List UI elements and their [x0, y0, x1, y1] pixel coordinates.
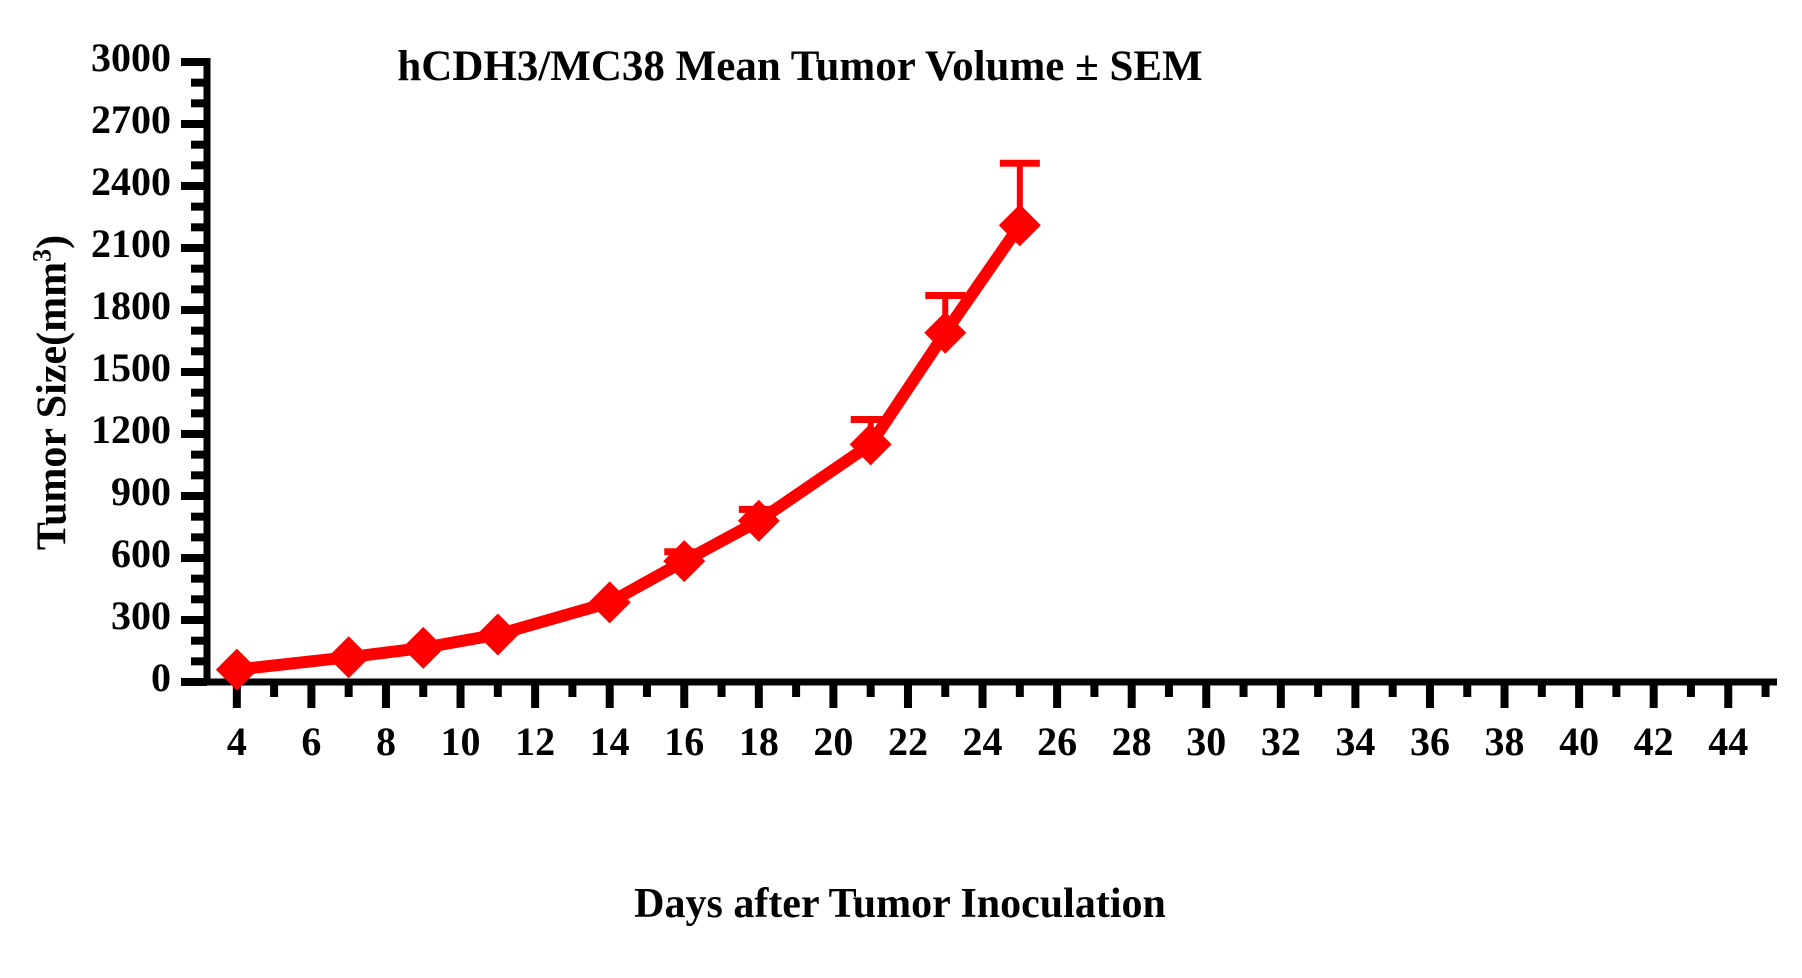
y-axis-tick-label: 1800: [11, 282, 171, 329]
y-axis-tick-label: 300: [11, 592, 171, 639]
x-axis-tick-label: 8: [351, 718, 421, 765]
chart-figure: hCDH3/MC38 Mean Tumor Volume ± SEM Tumor…: [0, 0, 1802, 978]
x-axis-tick-label: 18: [724, 718, 794, 765]
x-axis-tick-label: 38: [1470, 718, 1540, 765]
x-axis-tick-label: 24: [948, 718, 1018, 765]
data-point-marker: [328, 636, 370, 678]
x-axis-tick-label: 36: [1395, 718, 1465, 765]
x-axis-tick-label: 32: [1246, 718, 1316, 765]
x-axis-tick-label: 30: [1171, 718, 1241, 765]
y-axis-tick-label: 3000: [11, 34, 171, 81]
y-axis-tick-label: 900: [11, 468, 171, 515]
y-axis-major-ticks: [181, 62, 207, 682]
y-axis-tick-label: 0: [11, 654, 171, 701]
x-axis-tick-label: 12: [500, 718, 570, 765]
data-point-marker: [402, 627, 444, 669]
x-axis-tick-label: 28: [1097, 718, 1167, 765]
data-point-marker: [477, 613, 519, 655]
y-axis-tick-label: 1500: [11, 344, 171, 391]
x-axis-tick-label: 6: [276, 718, 346, 765]
y-axis-tick-label: 1200: [11, 406, 171, 453]
x-axis-tick-label: 22: [873, 718, 943, 765]
x-axis-tick-label: 44: [1693, 718, 1763, 765]
x-axis-tick-label: 4: [202, 718, 272, 765]
x-axis-tick-label: 20: [798, 718, 868, 765]
x-axis-major-ticks: [237, 682, 1728, 708]
x-axis-tick-label: 16: [649, 718, 719, 765]
y-axis-tick-label: 2400: [11, 158, 171, 205]
y-axis-tick-label: 600: [11, 530, 171, 577]
x-axis-tick-label: 34: [1320, 718, 1390, 765]
data-series-markers: [216, 204, 1041, 690]
x-axis-tick-label: 40: [1544, 718, 1614, 765]
plot-area: [0, 0, 1802, 978]
x-axis-tick-label: 14: [575, 718, 645, 765]
error-bars: [664, 163, 1040, 561]
x-axis-tick-label: 10: [426, 718, 496, 765]
x-axis-tick-label: 42: [1619, 718, 1689, 765]
y-axis-tick-label: 2700: [11, 96, 171, 143]
y-axis-tick-label: 2100: [11, 220, 171, 267]
x-axis-tick-label: 26: [1022, 718, 1092, 765]
